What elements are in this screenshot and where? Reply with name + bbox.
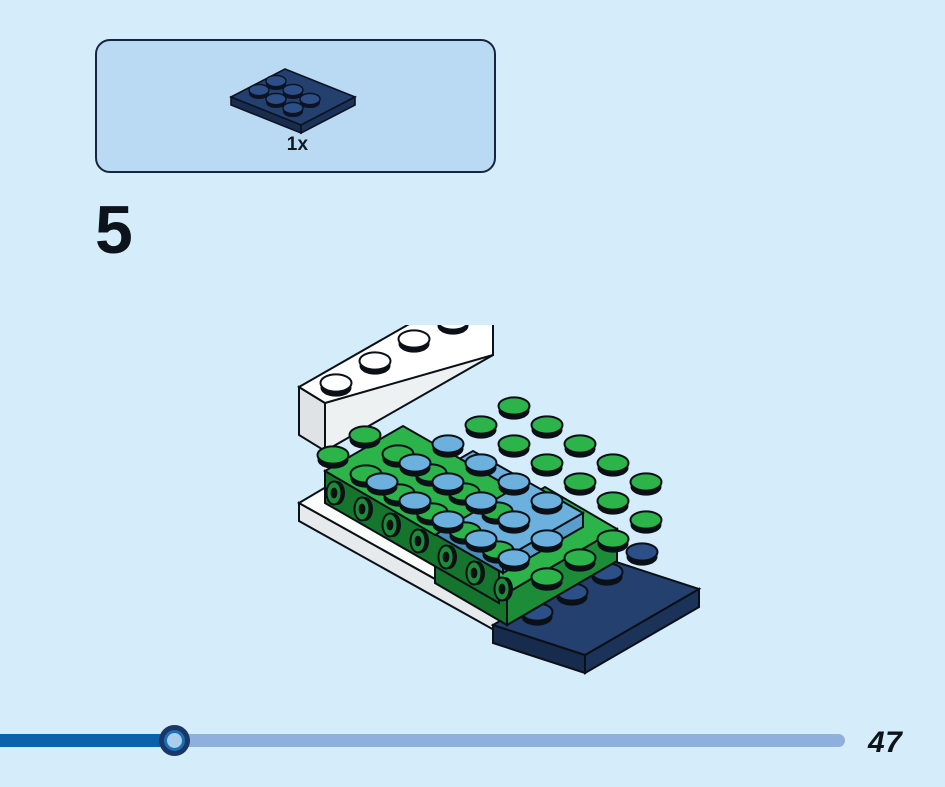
- progress-footer: 47: [0, 712, 945, 787]
- parts-callout-box: 1x: [95, 39, 496, 173]
- plate-2x4-illustration: [223, 55, 363, 135]
- progress-fill: [0, 734, 176, 747]
- assembly-svg: [285, 325, 710, 680]
- callout-part-plate-2x4: [223, 55, 363, 135]
- instruction-page: 1x 5: [0, 0, 945, 787]
- page-number: 47: [868, 726, 902, 760]
- model-illustration: [285, 325, 710, 680]
- progress-handle[interactable]: [159, 725, 190, 756]
- step-number: 5: [95, 196, 132, 264]
- callout-quantity-label: 1x: [97, 134, 498, 156]
- plate-body: [231, 69, 355, 133]
